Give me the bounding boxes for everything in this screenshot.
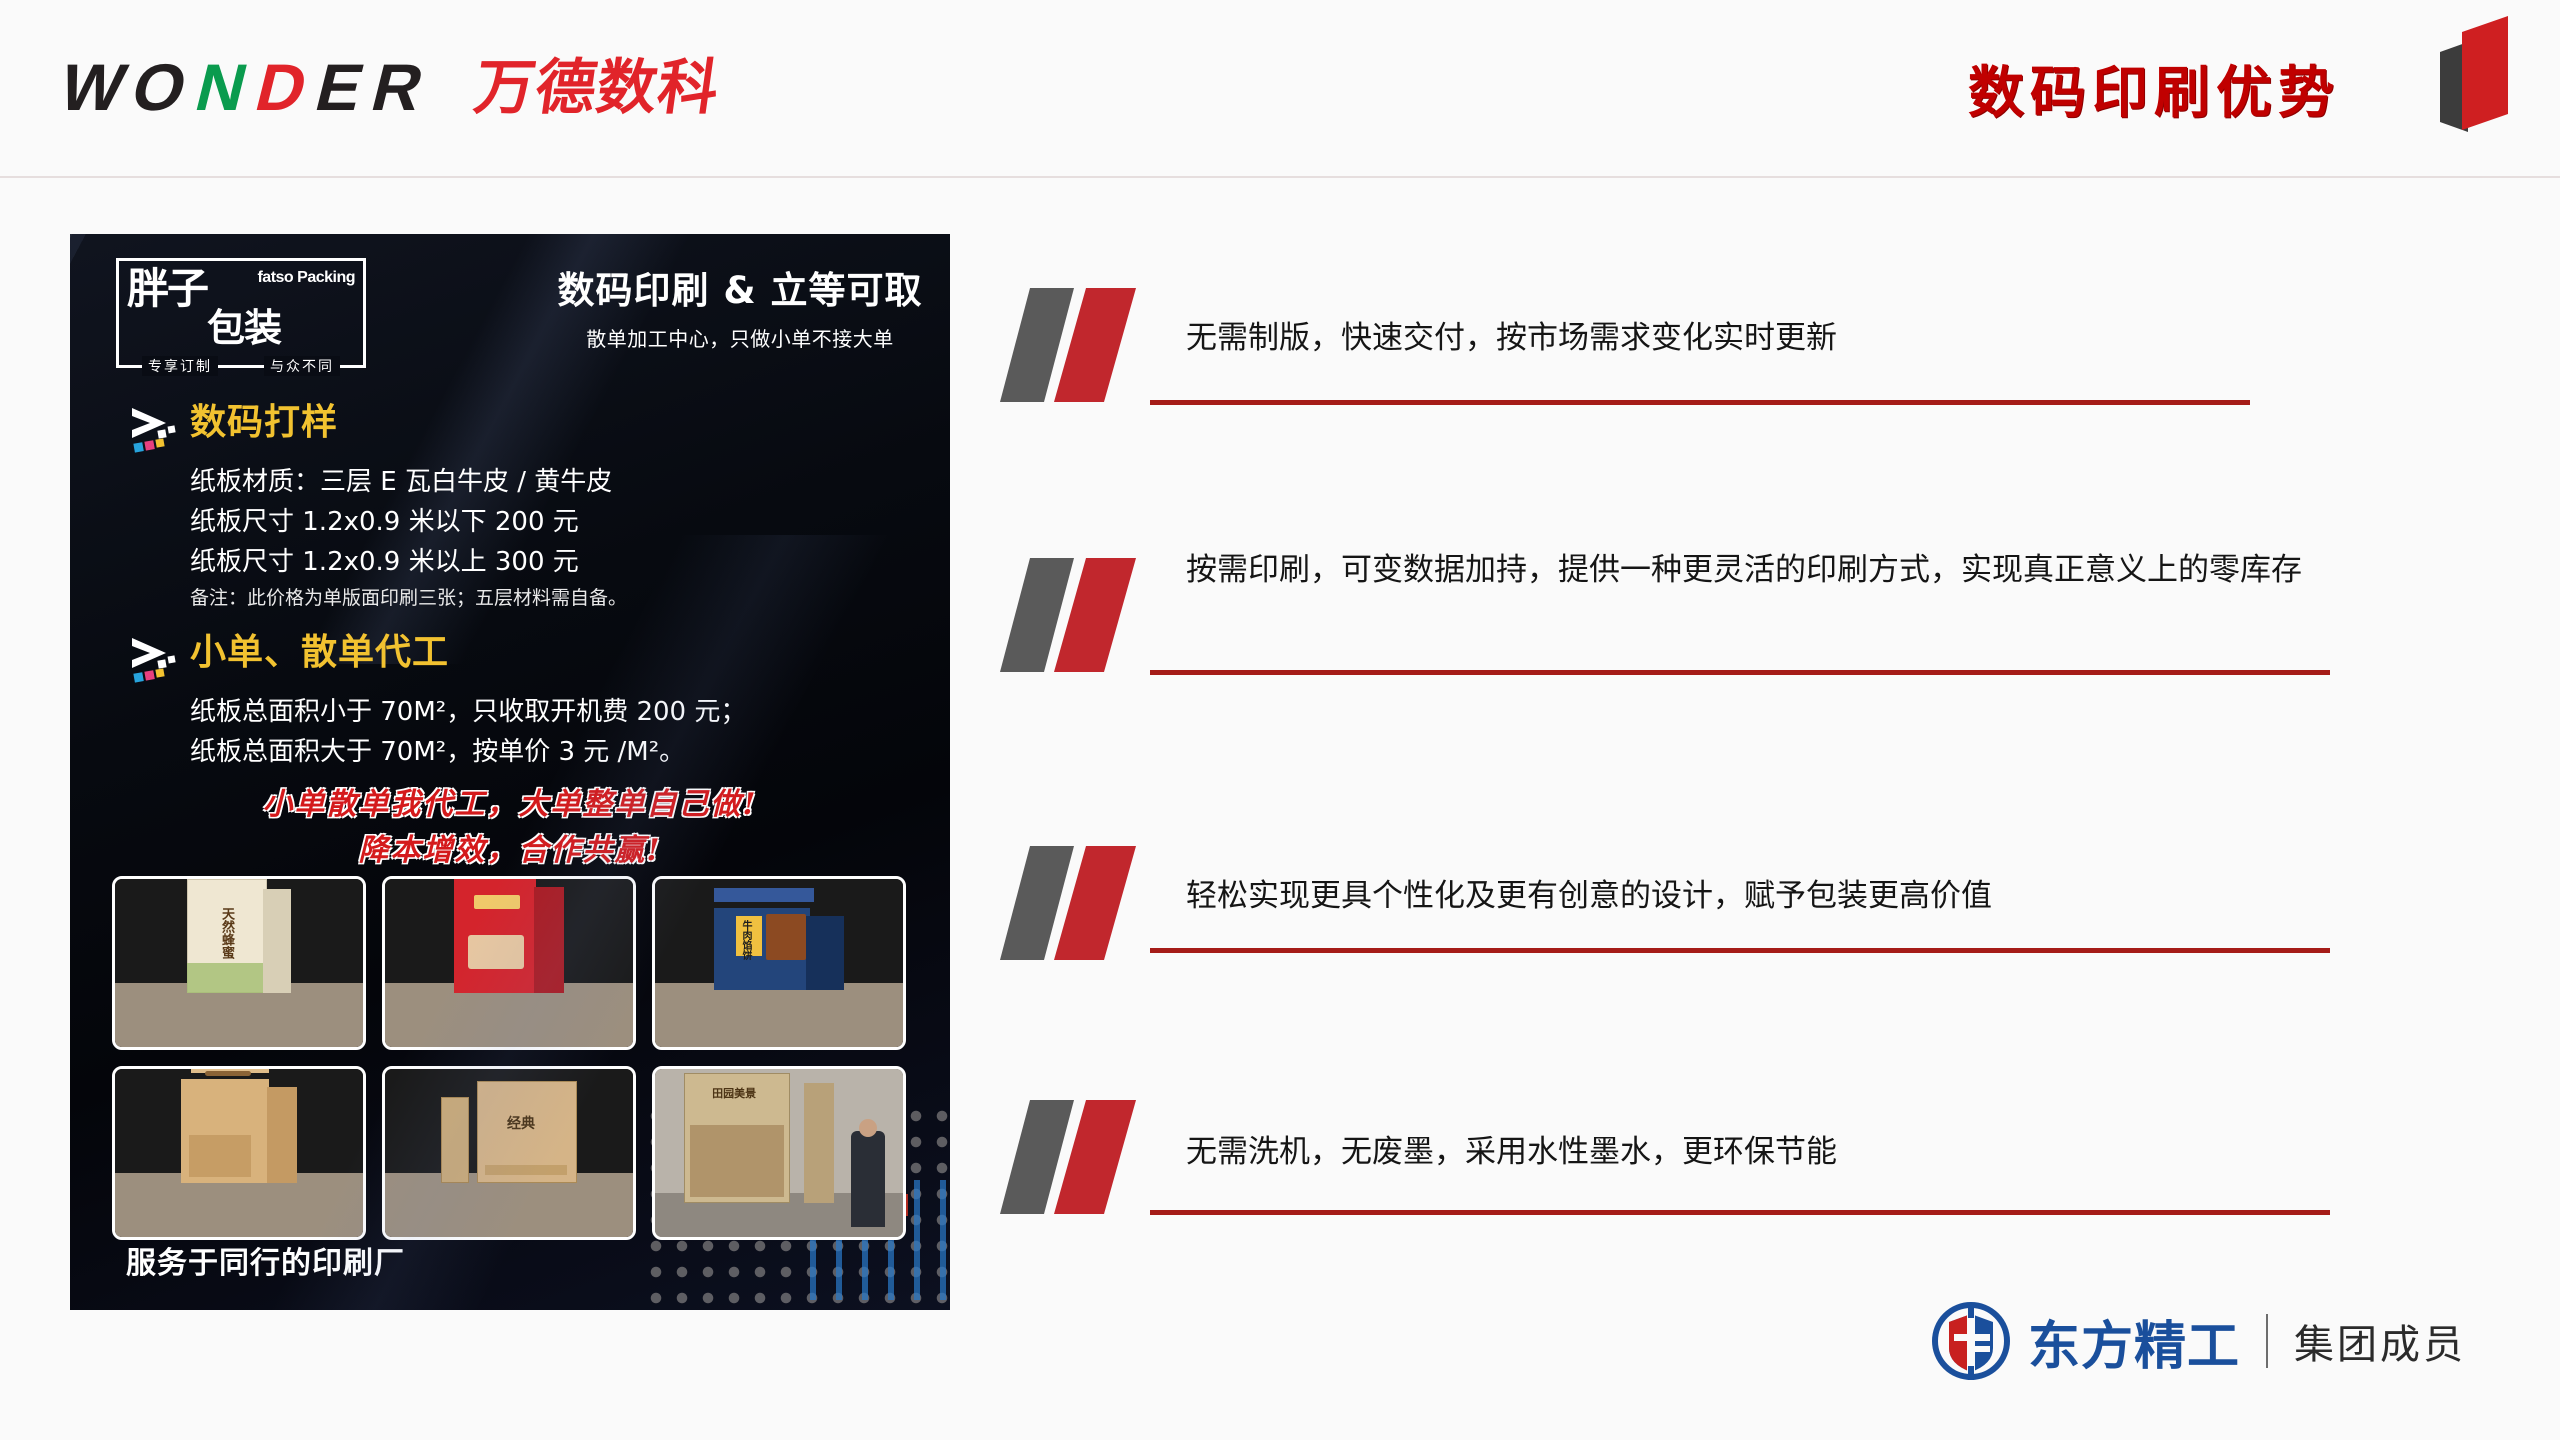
poster-subheadline: 散单加工中心，只做小单不接大单 <box>540 323 940 352</box>
double-slash-marker-icon <box>1000 556 1176 674</box>
product-gallery: 天然蜂蜜 牛肉 <box>112 876 908 1240</box>
section-body: 纸板材质：三层 E 瓦白牛皮 / 黄牛皮 纸板尺寸 1.2x0.9 米以下 20… <box>190 462 918 614</box>
section-heading: 小单、散单代工 <box>128 632 918 688</box>
double-slash-marker-icon <box>1000 844 1176 962</box>
benefit-text: 无需洗机，无废墨，采用水性墨水，更环保节能 <box>1186 1090 2340 1178</box>
group-membership-label: 集团成员 <box>2294 1312 2466 1370</box>
section-title: 数码打样 <box>190 402 338 444</box>
section-note: 备注：此价格为单版面印刷三张；五层材料需自备。 <box>190 582 918 614</box>
footer-divider <box>2266 1314 2268 1368</box>
slogan-line: 降本增效，合作共赢! <box>70 828 950 874</box>
benefits-list: 无需制版，快速交付，按市场需求变化实时更新 按需印刷，可变数据加持，提供一种更灵… <box>1000 286 2340 1290</box>
wordmark-letter-o: O <box>126 56 191 118</box>
slide-root: W O N D E R 万德数科 数码印刷优势 胖子 fatso Packing… <box>0 0 2560 1440</box>
fatso-logo-en: fatso Packing <box>257 269 355 287</box>
poster-footer-text: 服务于同行的印刷厂 <box>126 1238 405 1282</box>
benefit-item: 无需制版，快速交付，按市场需求变化实时更新 <box>1000 286 2340 534</box>
section-line: 纸板尺寸 1.2x0.9 米以下 200 元 <box>190 502 918 542</box>
parallelogram-mark-icon <box>2416 10 2536 150</box>
section-line: 纸板材质：三层 E 瓦白牛皮 / 黄牛皮 <box>190 462 918 502</box>
page-title: 数码印刷优势 <box>1968 48 2340 129</box>
section-line: 纸板尺寸 1.2x0.9 米以上 300 元 <box>190 542 918 582</box>
fatso-logo-cn: 胖子 <box>127 267 207 311</box>
wordmark-letter-d: D <box>250 56 311 118</box>
wordmark-letter-w: W <box>54 56 130 118</box>
wordmark-letter-n: N <box>190 56 251 118</box>
gallery-item-label: 牛肉馅饼 <box>738 920 753 960</box>
wordmark-letter-r: R <box>366 56 427 118</box>
benefit-item: 无需洗机，无废墨，采用水性墨水，更环保节能 <box>1000 1090 2340 1290</box>
section-heading: 数码打样 <box>128 402 918 458</box>
wonder-wordmark: W O N D E R <box>62 56 467 118</box>
slogan-line: 小单散单我代工，大单整单自己做! <box>70 782 950 828</box>
poster-section-small-orders: 小单、散单代工 纸板总面积小于 70M²，只收取开机费 200 元； 纸板总面积… <box>128 632 918 772</box>
promo-poster: 胖子 fatso Packing 包装 专享订制 与众不同 数码印刷 & 立等可… <box>70 234 950 1310</box>
benefit-item: 轻松实现更具个性化及更有创意的设计，赋予包装更高价值 <box>1000 844 2340 1090</box>
benefit-text: 按需印刷，可变数据加持，提供一种更灵活的印刷方式，实现真正意义上的零库存 <box>1186 534 2340 596</box>
poster-headline-block: 数码印刷 & 立等可取 散单加工中心，只做小单不接大单 <box>540 260 940 352</box>
gallery-item <box>112 1066 366 1240</box>
gallery-item: 经典 <box>382 1066 636 1240</box>
brand-logo: W O N D E R 万德数科 <box>62 44 719 118</box>
group-member-logo: 东方精工 集团成员 <box>1930 1300 2466 1382</box>
fatso-tagline-right: 与众不同 <box>264 356 340 376</box>
benefit-text: 无需制版，快速交付，按市场需求变化实时更新 <box>1186 286 2340 364</box>
poster-headline: 数码印刷 & 立等可取 <box>540 260 940 314</box>
section-title: 小单、散单代工 <box>190 632 449 674</box>
poster-header: 胖子 fatso Packing 包装 专享订制 与众不同 数码印刷 & 立等可… <box>70 234 950 374</box>
gallery-item-label: 天然蜂蜜 <box>217 907 236 959</box>
gallery-item: 牛肉馅饼 <box>652 876 906 1050</box>
fatso-tagline-left: 专享订制 <box>142 356 218 376</box>
chevron-arrow-icon <box>128 634 190 688</box>
gallery-item <box>382 876 636 1050</box>
gallery-item: 田园美景 <box>652 1066 906 1240</box>
gallery-item-label: 经典 <box>507 1113 535 1133</box>
fatso-taglines: 专享订制 与众不同 <box>119 356 363 376</box>
chevron-arrow-icon <box>128 404 190 458</box>
benefit-underline <box>1150 670 2330 675</box>
double-slash-marker-icon <box>1000 1098 1176 1216</box>
benefit-underline <box>1150 948 2330 953</box>
section-body: 纸板总面积小于 70M²，只收取开机费 200 元； 纸板总面积大于 70M²，… <box>190 692 918 772</box>
wordmark-letter-e: E <box>310 56 367 118</box>
poster-section-digital-proofing: 数码打样 纸板材质：三层 E 瓦白牛皮 / 黄牛皮 纸板尺寸 1.2x0.9 米… <box>128 402 918 614</box>
poster-slogan: 小单散单我代工，大单整单自己做! 降本增效，合作共赢! <box>70 782 950 874</box>
group-company-name: 东方精工 <box>2028 1304 2240 1379</box>
benefit-item: 按需印刷，可变数据加持，提供一种更灵活的印刷方式，实现真正意义上的零库存 <box>1000 534 2340 844</box>
header-divider <box>0 176 2560 178</box>
benefit-underline <box>1150 400 2250 405</box>
benefit-text: 轻松实现更具个性化及更有创意的设计，赋予包装更高价值 <box>1186 844 2340 922</box>
benefit-underline <box>1150 1210 2330 1215</box>
section-line: 纸板总面积小于 70M²，只收取开机费 200 元； <box>190 692 918 732</box>
fatso-logo-cn-sub: 包装 <box>207 297 281 352</box>
dongfang-shield-circle-icon <box>1930 1300 2012 1382</box>
gallery-item: 天然蜂蜜 <box>112 876 366 1050</box>
gallery-item-label: 田园美景 <box>712 1085 756 1101</box>
fatso-logo: 胖子 fatso Packing 包装 专享订制 与众不同 <box>116 258 366 368</box>
section-line: 纸板总面积大于 70M²，按单价 3 元 /M²。 <box>190 732 918 772</box>
double-slash-marker-icon <box>1000 286 1176 404</box>
brand-logo-cn: 万德数科 <box>471 58 723 118</box>
